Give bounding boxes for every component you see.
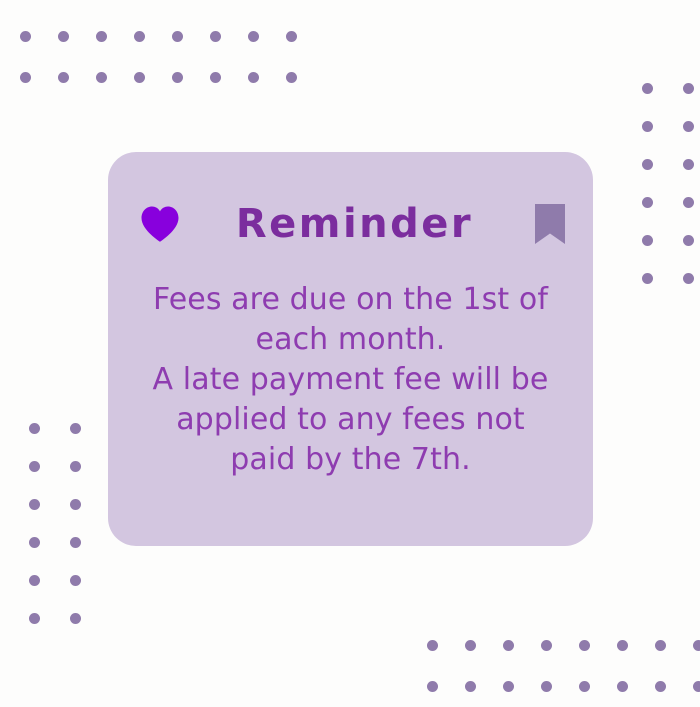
decorative-dot — [642, 273, 653, 284]
decorative-dot — [70, 423, 81, 434]
decorative-dot — [210, 31, 221, 42]
card-header: Reminder — [108, 200, 593, 248]
decorative-dot — [210, 72, 221, 83]
decorative-dot — [70, 499, 81, 510]
decorative-dot — [693, 640, 700, 651]
decorative-dot — [248, 72, 259, 83]
decorative-dot — [172, 72, 183, 83]
decorative-dot — [642, 159, 653, 170]
decorative-dot — [642, 197, 653, 208]
decorative-dot — [541, 681, 552, 692]
decorative-dot — [70, 461, 81, 472]
decorative-dot — [683, 121, 694, 132]
body-line: paid by the 7th. — [126, 440, 575, 480]
decorative-dot — [465, 681, 476, 692]
decorative-dot — [29, 461, 40, 472]
decorative-dot — [20, 72, 31, 83]
card-title: Reminder — [108, 204, 593, 244]
decorative-dot — [683, 235, 694, 246]
decorative-dot — [683, 197, 694, 208]
decorative-dot — [29, 537, 40, 548]
decorative-dot — [29, 423, 40, 434]
decorative-dot — [642, 83, 653, 94]
decorative-dot — [693, 681, 700, 692]
decorative-dot — [58, 72, 69, 83]
decorative-dot — [58, 31, 69, 42]
card-body-text: Fees are due on the 1st of each month. A… — [126, 280, 575, 480]
decorative-dot — [70, 613, 81, 624]
body-line: A late payment fee will be — [126, 360, 575, 400]
decorative-dot — [20, 31, 31, 42]
decorative-dot — [29, 499, 40, 510]
decorative-dot — [617, 640, 628, 651]
dot-grid-bottom-right — [413, 625, 700, 707]
decorative-dot — [29, 575, 40, 586]
decorative-dot — [642, 121, 653, 132]
body-line: each month. — [126, 320, 575, 360]
decorative-dot — [70, 537, 81, 548]
decorative-dot — [286, 31, 297, 42]
decorative-dot — [617, 681, 628, 692]
decorative-dot — [683, 159, 694, 170]
reminder-card: Reminder Fees are due on the 1st of each… — [108, 152, 593, 546]
poster-canvas: Reminder Fees are due on the 1st of each… — [0, 0, 700, 700]
decorative-dot — [465, 640, 476, 651]
decorative-dot — [427, 640, 438, 651]
dot-grid-top-left — [6, 16, 310, 98]
decorative-dot — [503, 640, 514, 651]
bookmark-icon[interactable] — [535, 204, 565, 244]
decorative-dot — [579, 681, 590, 692]
decorative-dot — [134, 31, 145, 42]
body-line: Fees are due on the 1st of — [126, 280, 575, 320]
decorative-dot — [655, 681, 666, 692]
decorative-dot — [541, 640, 552, 651]
decorative-dot — [172, 31, 183, 42]
decorative-dot — [96, 31, 107, 42]
decorative-dot — [642, 235, 653, 246]
decorative-dot — [29, 613, 40, 624]
decorative-dot — [96, 72, 107, 83]
decorative-dot — [134, 72, 145, 83]
decorative-dot — [655, 640, 666, 651]
decorative-dot — [70, 575, 81, 586]
body-line: applied to any fees not — [126, 400, 575, 440]
dot-grid-right — [627, 69, 700, 297]
decorative-dot — [683, 273, 694, 284]
decorative-dot — [286, 72, 297, 83]
decorative-dot — [503, 681, 514, 692]
decorative-dot — [248, 31, 259, 42]
dot-grid-left — [14, 409, 96, 637]
decorative-dot — [427, 681, 438, 692]
decorative-dot — [579, 640, 590, 651]
decorative-dot — [683, 83, 694, 94]
